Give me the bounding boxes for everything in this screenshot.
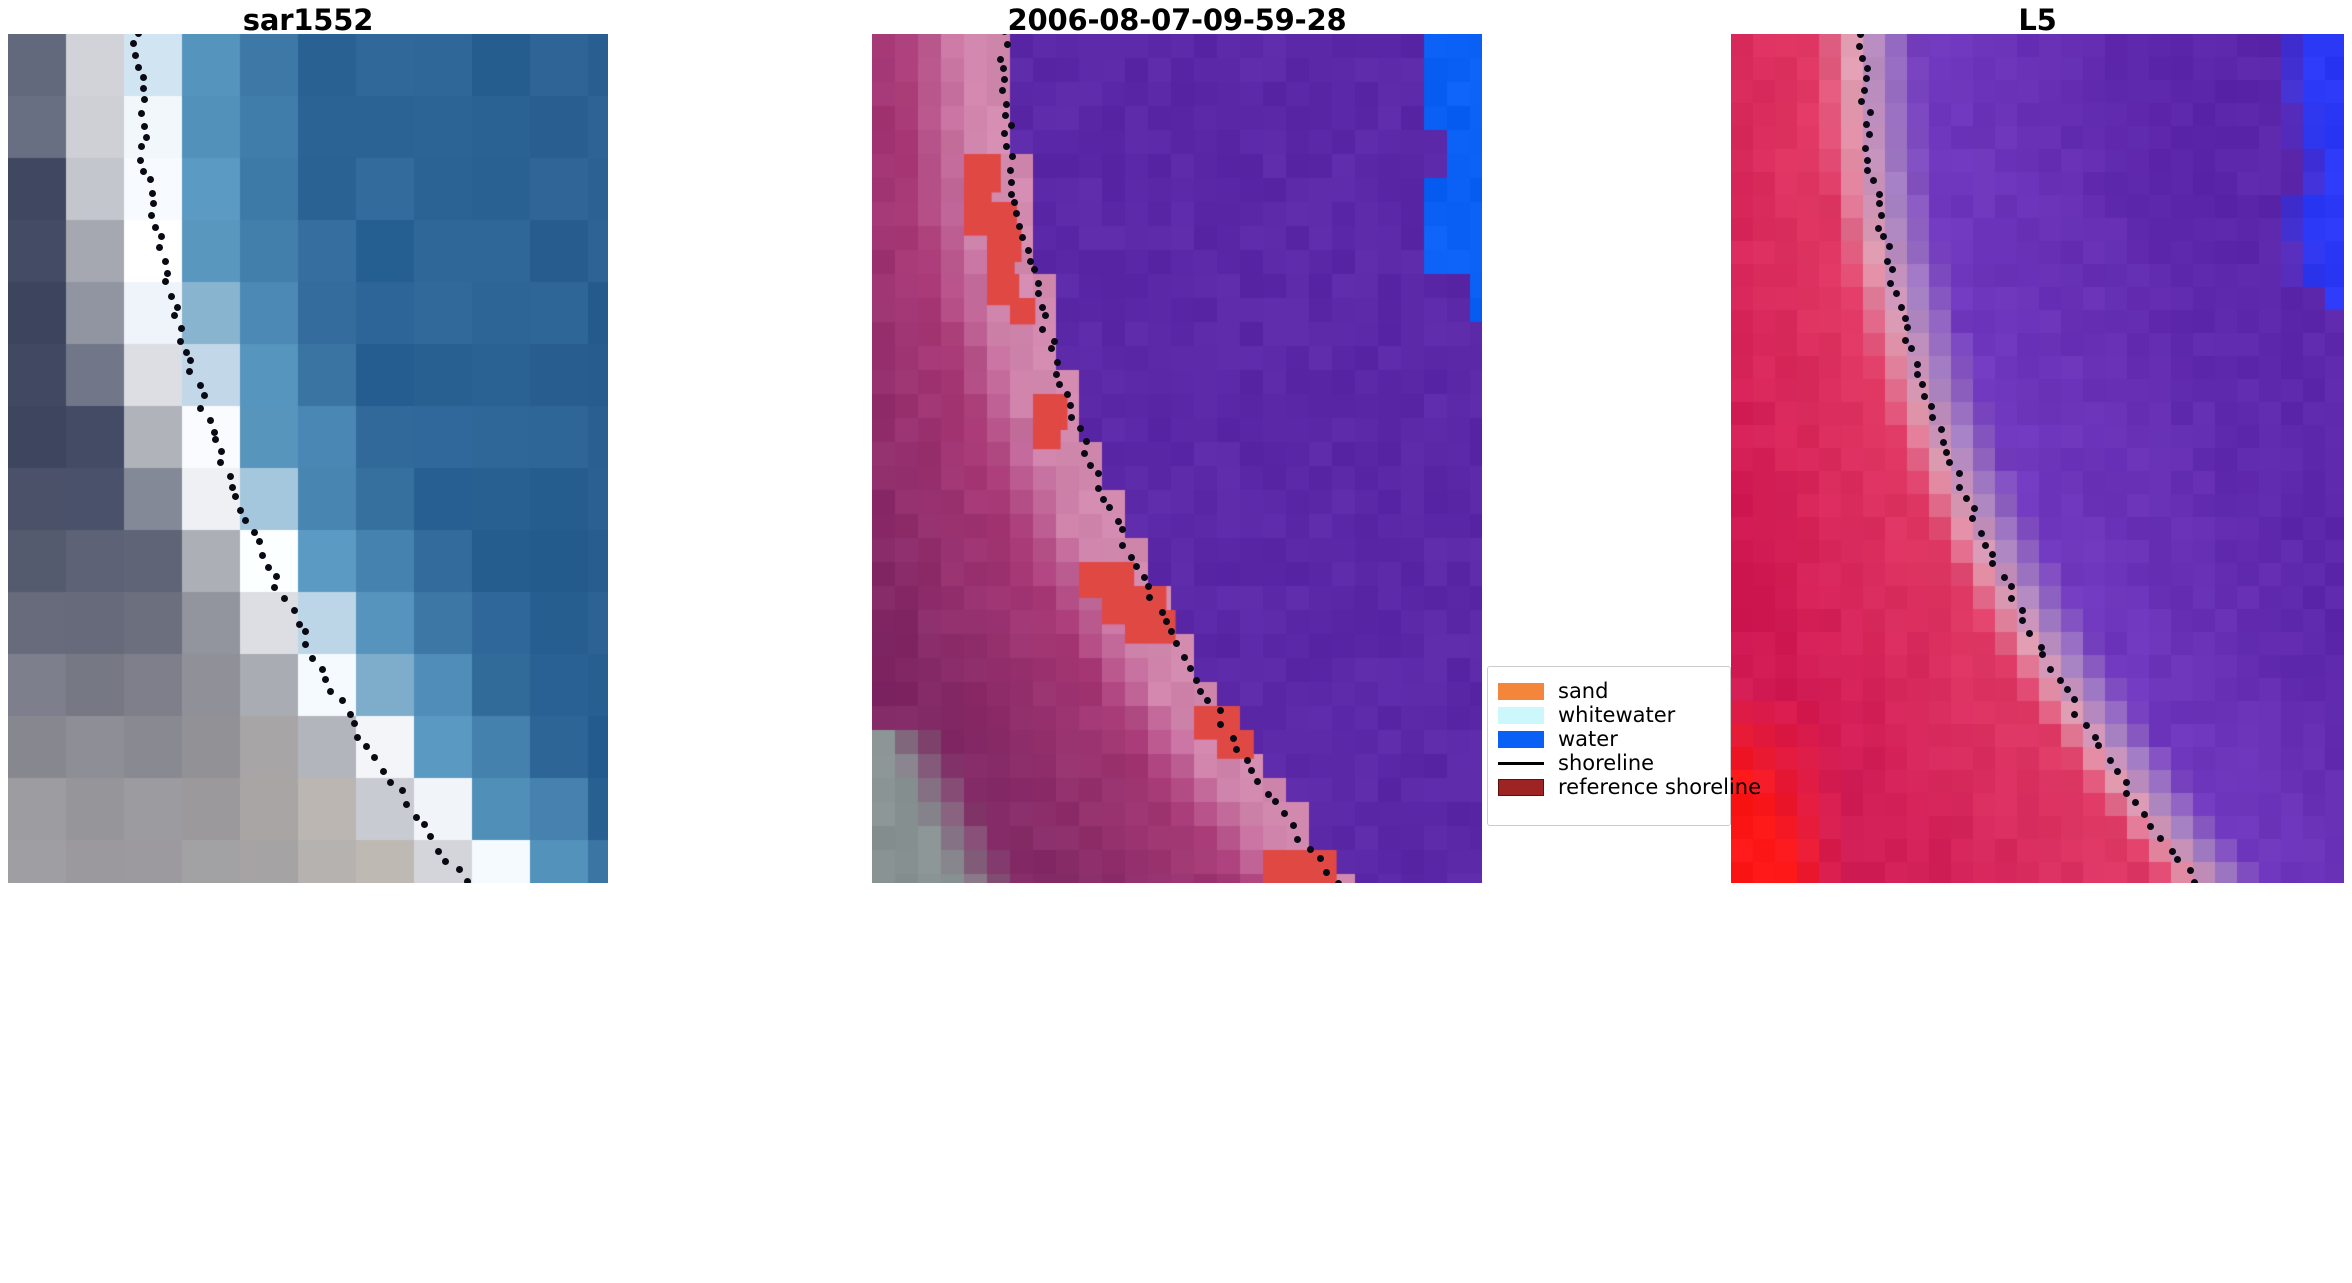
shoreline-dot <box>387 779 394 786</box>
shoreline-dot <box>2123 790 2130 797</box>
shoreline-dot <box>2057 677 2064 684</box>
shoreline-dot <box>1133 563 1140 570</box>
shoreline-dot <box>1106 504 1113 511</box>
shoreline-dot <box>1876 191 1883 198</box>
shoreline-dots-sar1552 <box>8 34 608 883</box>
shoreline-dot <box>1884 258 1891 265</box>
shoreline-dot <box>187 357 194 364</box>
shoreline-dot <box>1011 199 1018 206</box>
shoreline-dot <box>1051 338 1058 345</box>
legend-item-shoreline: shoreline <box>1498 753 1718 773</box>
shoreline-dot <box>999 87 1006 94</box>
shoreline-dot <box>140 85 147 92</box>
shoreline-dot <box>197 405 204 412</box>
shoreline-dot <box>186 368 193 375</box>
shoreline-dot <box>1989 551 1996 558</box>
shoreline-dot <box>1938 426 1945 433</box>
shoreline-dot <box>164 270 171 277</box>
shoreline-dot <box>2047 666 2054 673</box>
shoreline-dot <box>201 392 208 399</box>
shoreline-dot <box>1008 122 1015 129</box>
shoreline-dot <box>1163 618 1170 625</box>
axes-l5 <box>1731 34 2344 883</box>
shoreline-dot <box>1181 654 1188 661</box>
shoreline-dot <box>2071 696 2078 703</box>
shoreline-dot <box>2114 768 2121 775</box>
shoreline-dot <box>2071 711 2078 718</box>
shoreline-dot <box>1009 153 1016 160</box>
panel-classified: 2006-08-07-09-59-28 <box>872 0 1482 883</box>
shoreline-line-marker <box>1498 762 1544 765</box>
shoreline-dot <box>1272 798 1279 805</box>
shoreline-dot <box>168 293 175 300</box>
shoreline-dot <box>162 278 169 285</box>
shoreline-dot <box>1031 266 1038 273</box>
shoreline-dot <box>1946 459 1953 466</box>
shoreline-dot <box>2092 734 2099 741</box>
panel-l5: L5 <box>1731 0 2344 883</box>
shoreline-dot <box>1067 402 1074 409</box>
shoreline-dot <box>1290 822 1297 829</box>
shoreline-dot <box>435 848 442 855</box>
shoreline-dot <box>1265 791 1272 798</box>
shoreline-dot <box>1982 542 1989 549</box>
shoreline-dot <box>1001 130 1008 137</box>
shoreline-dot <box>271 584 278 591</box>
whitewater-swatch <box>1498 707 1544 724</box>
shoreline-dot <box>281 595 288 602</box>
shoreline-dots-classified <box>872 34 1482 883</box>
shoreline-dot <box>1323 869 1330 876</box>
shoreline-dot <box>2001 574 2008 581</box>
shoreline-dot <box>1001 76 1008 83</box>
shoreline-dot <box>354 734 361 741</box>
shoreline-dot <box>171 312 178 319</box>
shoreline-dot <box>2008 595 2015 602</box>
shoreline-dot <box>1921 393 1928 400</box>
shoreline-dot <box>351 720 358 727</box>
shoreline-dot <box>1864 167 1871 174</box>
shoreline-dot <box>997 56 1004 63</box>
legend-item-water: water <box>1498 729 1718 749</box>
shoreline-dot <box>138 110 145 117</box>
shoreline-dot <box>456 866 463 873</box>
shoreline-dot <box>1978 530 1985 537</box>
shoreline-dot <box>156 244 163 251</box>
shoreline-dot <box>1217 707 1224 714</box>
shoreline-dot <box>1000 65 1007 72</box>
shoreline-dot <box>147 176 154 183</box>
shoreline-dot <box>1971 505 1978 512</box>
shoreline-dot <box>135 34 142 37</box>
shoreline-dot <box>1857 34 1864 38</box>
legend-label-whitewater: whitewater <box>1558 703 1675 727</box>
shoreline-dot <box>1193 677 1200 684</box>
shoreline-dot <box>1919 381 1926 388</box>
shoreline-dot <box>1876 200 1883 207</box>
shoreline-dot <box>399 787 406 794</box>
shoreline-dot <box>162 258 169 265</box>
shoreline-dot <box>1001 34 1008 35</box>
shoreline-dot <box>1068 414 1075 421</box>
shoreline-dot <box>265 564 272 571</box>
shoreline-dot <box>1008 191 1015 198</box>
shoreline-dot <box>178 325 185 332</box>
shoreline-dot <box>1902 337 1909 344</box>
shoreline-dot <box>427 833 434 840</box>
shoreline-dot <box>1870 177 1877 184</box>
shoreline-dot <box>1039 326 1046 333</box>
shoreline-dot <box>1115 518 1122 525</box>
shoreline-dot <box>143 134 150 141</box>
shoreline-dot <box>242 517 249 524</box>
shoreline-dot <box>442 858 449 865</box>
shoreline-dot <box>1019 234 1026 241</box>
shoreline-dots-l5 <box>1731 34 2344 883</box>
legend-label-reference-shoreline: reference shoreline <box>1558 775 1761 799</box>
shoreline-dot <box>1003 143 1010 150</box>
shoreline-dot <box>2064 686 2071 693</box>
shoreline-dot <box>259 552 266 559</box>
shoreline-dot <box>2123 779 2130 786</box>
shoreline-dot <box>1173 640 1180 647</box>
shoreline-dot <box>1317 855 1324 862</box>
shoreline-dot <box>1989 560 1996 567</box>
shoreline-dot <box>2038 644 2045 651</box>
shoreline-dot <box>132 52 139 59</box>
shoreline-dot <box>237 507 244 514</box>
shoreline-dot <box>1053 371 1060 378</box>
shoreline-dot <box>1867 109 1874 116</box>
shoreline-dot <box>464 878 471 883</box>
shoreline-dot <box>2083 722 2090 729</box>
shoreline-dot <box>158 233 165 240</box>
shoreline-dot <box>1197 688 1204 695</box>
shoreline-dot <box>2157 835 2164 842</box>
shoreline-dot <box>1035 290 1042 297</box>
shoreline-dot <box>1902 315 1909 322</box>
shoreline-dot <box>1054 359 1061 366</box>
shoreline-dot <box>140 74 147 81</box>
shoreline-dot <box>1928 403 1935 410</box>
shoreline-dot <box>1864 65 1871 72</box>
shoreline-dot <box>256 538 263 545</box>
axes-classified <box>872 34 1482 883</box>
shoreline-dot <box>1969 515 1976 522</box>
shoreline-dot <box>363 743 370 750</box>
shoreline-dot <box>1003 101 1010 108</box>
legend-label-shoreline: shoreline <box>1558 751 1654 775</box>
shoreline-dot <box>1016 223 1023 230</box>
shoreline-dot <box>1893 290 1900 297</box>
shoreline-dot <box>1002 112 1009 119</box>
shoreline-dot <box>197 382 204 389</box>
shoreline-dot <box>251 529 258 536</box>
shoreline-dot <box>1159 609 1166 616</box>
shoreline-dot <box>319 666 326 673</box>
shoreline-dot <box>1119 542 1126 549</box>
shoreline-dot <box>1856 43 1863 50</box>
shoreline-dot <box>2019 617 2026 624</box>
shoreline-dot <box>217 459 224 466</box>
shoreline-dot <box>347 711 354 718</box>
shoreline-dot <box>2019 607 2026 614</box>
shoreline-dot <box>149 190 156 197</box>
shoreline-dot <box>339 697 346 704</box>
shoreline-dot <box>1119 526 1126 533</box>
shoreline-dot <box>138 143 145 150</box>
shoreline-dot <box>1233 746 1240 753</box>
shoreline-dot <box>1858 98 1865 105</box>
shoreline-dot <box>229 484 236 491</box>
shoreline-dot <box>1008 179 1015 186</box>
shoreline-dot <box>227 473 234 480</box>
shoreline-dot <box>273 573 280 580</box>
shoreline-dot <box>2008 583 2015 590</box>
shoreline-dot <box>327 688 334 695</box>
shoreline-dot <box>1863 121 1870 128</box>
shoreline-dot <box>1880 233 1887 240</box>
shoreline-dot <box>302 628 309 635</box>
shoreline-dot <box>1307 846 1314 853</box>
shoreline-dot <box>1929 414 1936 421</box>
shoreline-dot <box>1898 304 1905 311</box>
shoreline-dot <box>212 436 219 443</box>
shoreline-dot <box>1083 438 1090 445</box>
shoreline-dot <box>413 814 420 821</box>
shoreline-dot <box>1004 41 1011 48</box>
shoreline-dot <box>1027 258 1034 265</box>
shoreline-dot <box>1128 554 1135 561</box>
shoreline-dot <box>403 801 410 808</box>
shoreline-dot <box>1861 87 1868 94</box>
shoreline-dot <box>1230 735 1237 742</box>
shoreline-dot <box>140 168 147 175</box>
shoreline-dot <box>1013 210 1020 217</box>
shoreline-dot <box>1878 212 1885 219</box>
shoreline-dot <box>1956 470 1963 477</box>
shoreline-dot <box>1864 157 1871 164</box>
shoreline-dot <box>302 641 309 648</box>
shoreline-dot <box>2107 757 2114 764</box>
legend-item-sand: sand <box>1498 681 1718 701</box>
figure-canvas: sar1552 2006-08-07-09-59-28 L5 sand whit… <box>0 0 2352 1283</box>
shoreline-dot <box>1875 225 1882 232</box>
panel-sar1552: sar1552 <box>8 0 608 883</box>
shoreline-dot <box>1294 836 1301 843</box>
shoreline-dot <box>1863 75 1870 82</box>
shoreline-dot <box>1095 485 1102 492</box>
shoreline-dot <box>232 493 239 500</box>
shoreline-dot <box>1281 810 1288 817</box>
class-legend: sand whitewater water shoreline referenc… <box>1487 666 1731 826</box>
shoreline-dot <box>174 304 181 311</box>
shoreline-dot <box>1100 496 1107 503</box>
shoreline-dot <box>2141 811 2148 818</box>
sand-swatch <box>1498 683 1544 700</box>
shoreline-dot <box>1095 470 1102 477</box>
legend-label-sand: sand <box>1558 679 1608 703</box>
shoreline-dot <box>1056 381 1063 388</box>
shoreline-dot <box>291 607 298 614</box>
shoreline-dot <box>141 123 148 130</box>
shoreline-dot <box>1908 345 1915 352</box>
shoreline-dot <box>2169 848 2176 855</box>
shoreline-dot <box>1204 697 1211 704</box>
shoreline-dot <box>137 157 144 164</box>
shoreline-dot <box>1141 574 1148 581</box>
shoreline-dot <box>2147 823 2154 830</box>
shoreline-dot <box>183 349 190 356</box>
shoreline-dot <box>1187 665 1194 672</box>
shoreline-dot <box>1940 439 1947 446</box>
shoreline-dot <box>1889 266 1896 273</box>
shoreline-dot <box>2174 856 2181 863</box>
shoreline-dot <box>1887 280 1894 287</box>
shoreline-dot <box>207 417 214 424</box>
shoreline-dot <box>1217 721 1224 728</box>
shoreline-dot <box>1963 495 1970 502</box>
shoreline-dot <box>1866 131 1873 138</box>
axes-sar1552 <box>8 34 608 883</box>
shoreline-dot <box>1914 361 1921 368</box>
legend-item-reference-shoreline: reference shoreline <box>1498 777 1718 797</box>
shoreline-dot <box>1248 767 1255 774</box>
shoreline-dot <box>1943 449 1950 456</box>
shoreline-dot <box>141 96 148 103</box>
shoreline-dot <box>130 40 137 47</box>
shoreline-dot <box>1254 778 1261 785</box>
shoreline-dot <box>1904 324 1911 331</box>
shoreline-dot <box>1914 371 1921 378</box>
shoreline-dot <box>1048 345 1055 352</box>
legend-item-whitewater: whitewater <box>1498 705 1718 725</box>
shoreline-dot <box>1007 167 1014 174</box>
shoreline-dot <box>177 338 184 345</box>
shoreline-dot <box>1081 450 1088 457</box>
shoreline-dot <box>148 212 155 219</box>
shoreline-dot <box>1025 247 1032 254</box>
shoreline-dot <box>2187 867 2194 874</box>
shoreline-dot <box>2026 630 2033 637</box>
shoreline-dot <box>1168 628 1175 635</box>
shoreline-dot <box>1077 425 1084 432</box>
shoreline-dot <box>2095 742 2102 749</box>
shoreline-dot <box>152 224 159 231</box>
shoreline-dot <box>218 448 225 455</box>
shoreline-dot <box>380 768 387 775</box>
shoreline-dot <box>1087 462 1094 469</box>
shoreline-dot <box>309 655 316 662</box>
shoreline-dot <box>1039 304 1046 311</box>
reference-shoreline-swatch <box>1498 779 1544 796</box>
shoreline-dot <box>1956 484 1963 491</box>
shoreline-dot <box>2132 799 2139 806</box>
shoreline-dot <box>1335 880 1342 883</box>
shoreline-dot <box>1244 757 1251 764</box>
shoreline-dot <box>2191 879 2198 883</box>
legend-label-water: water <box>1558 727 1618 751</box>
shoreline-dot <box>135 64 142 71</box>
shoreline-dot <box>421 821 428 828</box>
water-swatch <box>1498 731 1544 748</box>
shoreline-dot <box>1862 145 1869 152</box>
shoreline-dot <box>1859 55 1866 62</box>
shoreline-dot <box>1146 594 1153 601</box>
shoreline-dot <box>371 754 378 761</box>
shoreline-dot <box>211 429 218 436</box>
shoreline-dot <box>296 621 303 628</box>
shoreline-dot <box>1035 280 1042 287</box>
shoreline-dot <box>2039 651 2046 658</box>
shoreline-dot <box>150 200 157 207</box>
shoreline-dot <box>1064 391 1071 398</box>
shoreline-dot <box>322 676 329 683</box>
shoreline-dot <box>1042 312 1049 319</box>
shoreline-dot <box>1145 583 1152 590</box>
shoreline-dot <box>1886 243 1893 250</box>
